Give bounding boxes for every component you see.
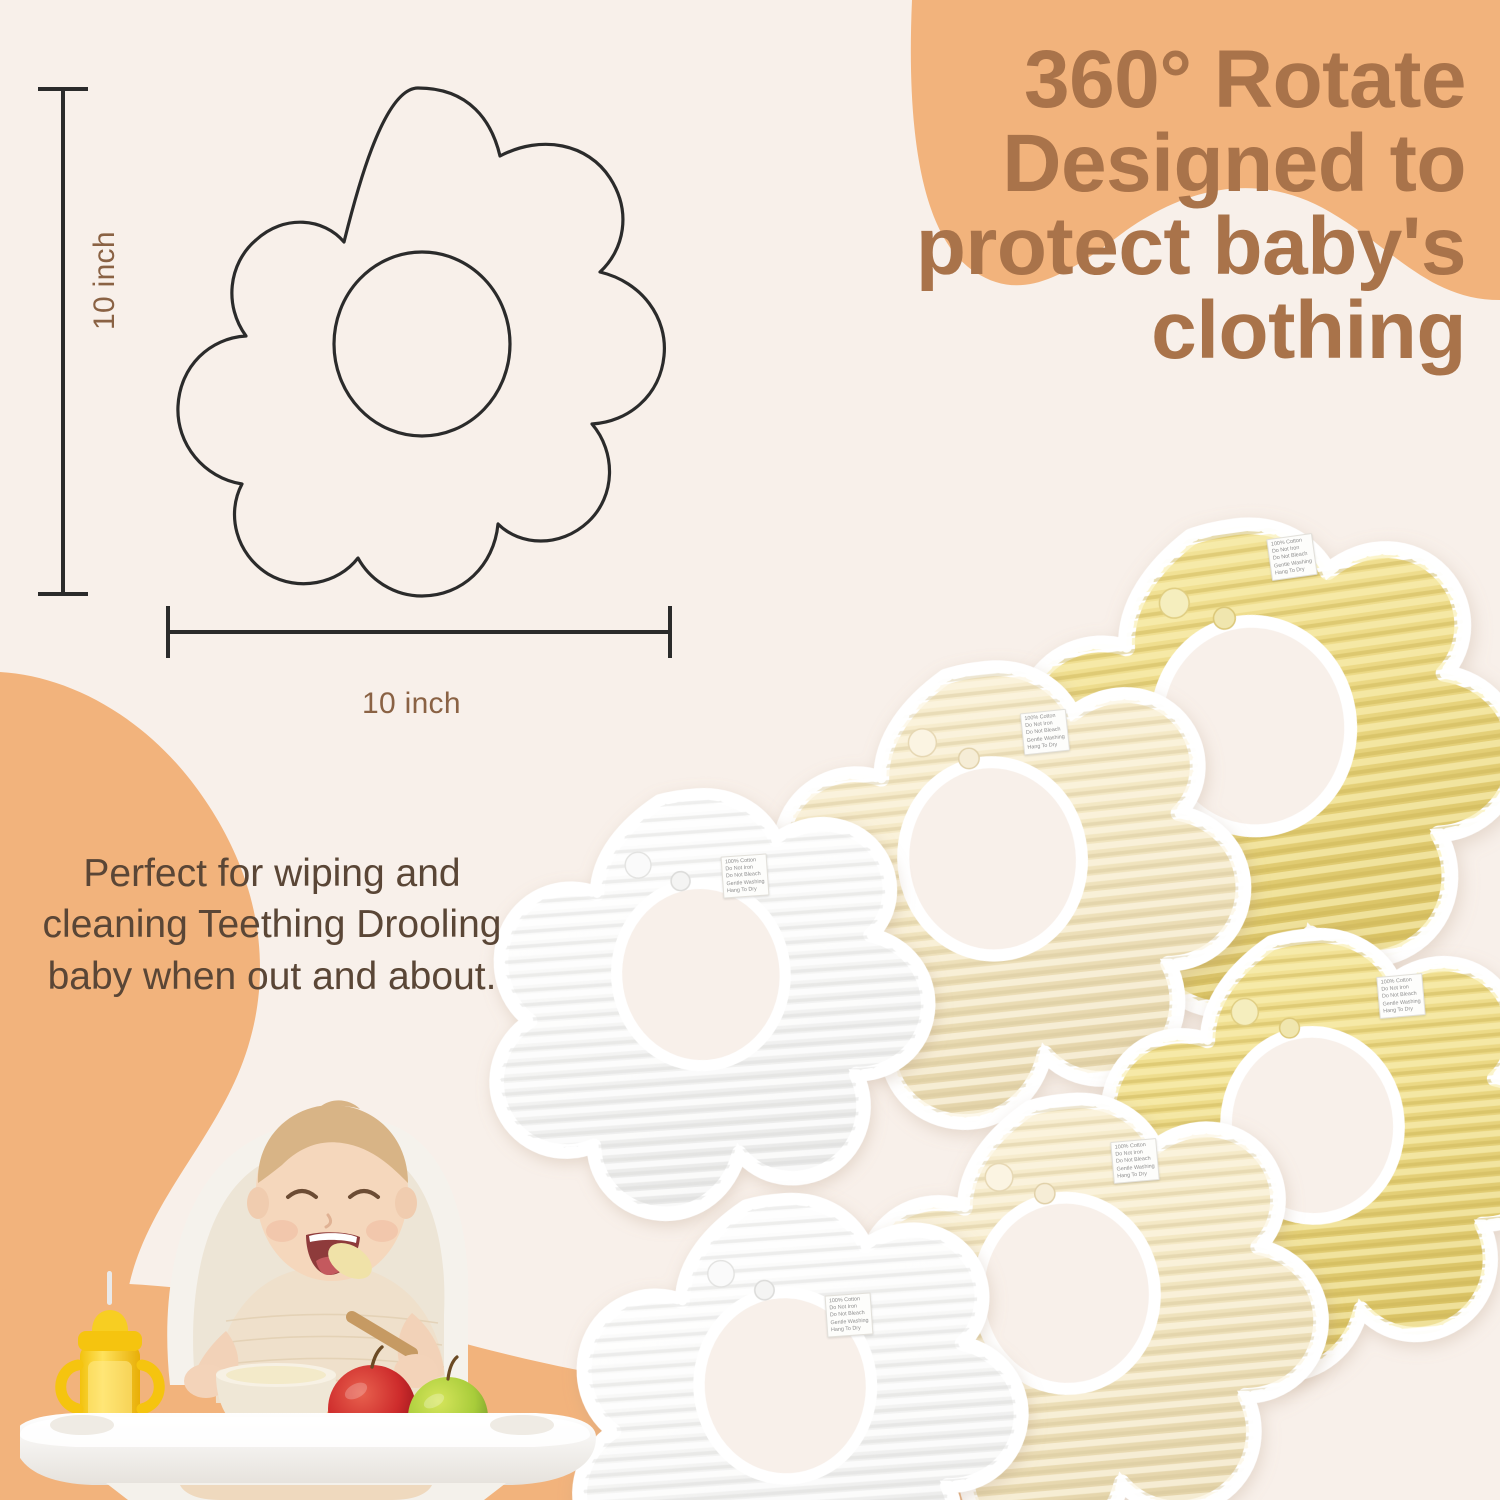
photo-content	[20, 1100, 596, 1500]
snap-button-inner[interactable]	[1034, 1183, 1056, 1205]
tray-well-right	[490, 1415, 554, 1435]
flower-outline	[178, 88, 665, 596]
baby-ear-left	[247, 1187, 269, 1219]
dimension-label-height: 10 inch	[88, 231, 122, 330]
headline-line-4: clothing	[766, 289, 1466, 373]
tray-cup-well	[50, 1415, 114, 1435]
care-label-bib-cream-upper-mid: 100% Cotton Do Not Iron Do Not Bleach Ge…	[1020, 709, 1070, 756]
bowl-food	[226, 1366, 326, 1384]
snap-button-inner[interactable]	[670, 871, 690, 891]
care-label-bib-white-bottom: 100% Cotton Do Not Iron Do Not Bleach Ge…	[825, 1292, 874, 1337]
care-label-bib-white-left: 100% Cotton Do Not Iron Do Not Bleach Ge…	[721, 853, 770, 898]
headline-line-1: 360° Rotate	[766, 38, 1466, 122]
cup-handle-right	[142, 1365, 159, 1409]
product-marketing-image: 10 inch 10 inch 360° Rotate Designed to …	[0, 0, 1500, 1500]
baby-cheek-right	[366, 1220, 398, 1242]
snap-button-inner[interactable]	[1279, 1017, 1300, 1038]
dimension-line-horizontal	[168, 606, 670, 658]
dimension-label-width: 10 inch	[362, 687, 461, 721]
body-copy: Perfect for wiping and cleaning Teething…	[22, 848, 522, 1002]
baby-cheek-left	[266, 1220, 298, 1242]
neck-hole-outline	[334, 252, 510, 436]
baby-ear-right	[395, 1187, 417, 1219]
care-label-bib-cream-lower-mid: 100% Cotton Do Not Iron Do Not Bleach Ge…	[1110, 1138, 1160, 1184]
dimension-line-vertical	[38, 89, 88, 594]
care-label-bib-yellow-right: 100% Cotton Do Not Iron Do Not Bleach Ge…	[1376, 973, 1426, 1019]
baby-legs	[180, 1485, 432, 1500]
headline-line-2: Designed to	[766, 122, 1466, 206]
headline-line-3: protect baby's	[766, 205, 1466, 289]
care-label-bib-yellow-top-right: 100% Cotton Do Not Iron Do Not Bleach Ge…	[1266, 533, 1318, 581]
snap-button-inner[interactable]	[754, 1280, 775, 1301]
care-line-5: Hang To Dry	[831, 1325, 870, 1335]
size-diagram: 10 inch 10 inch	[22, 60, 742, 710]
cup-handle-left	[61, 1365, 78, 1409]
baby-highchair-photo	[20, 1085, 600, 1500]
care-line-5: Hang To Dry	[727, 886, 766, 896]
page-title: 360° Rotate Designed to protect baby's c…	[766, 38, 1466, 373]
